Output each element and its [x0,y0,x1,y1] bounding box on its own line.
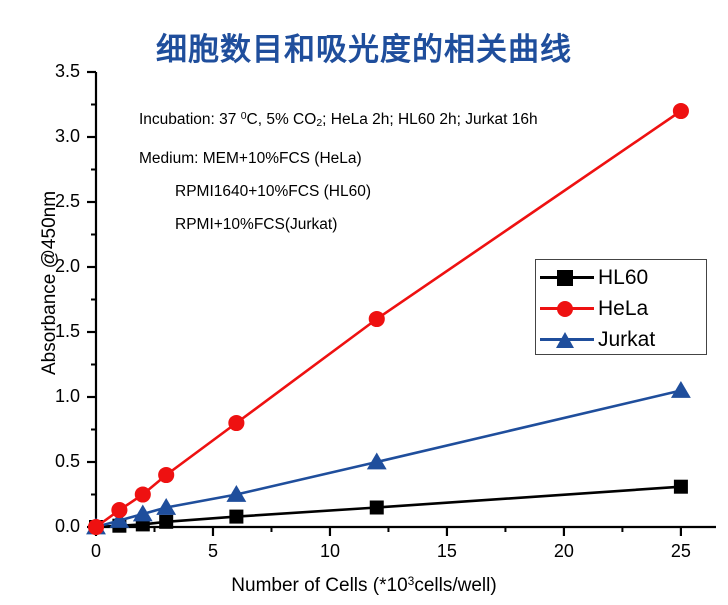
data-marker-circle [369,311,385,327]
legend-symbol-circle-icon [536,293,598,323]
series-jurkat [86,381,691,534]
chart-legend: HL60HeLaJurkat [535,259,707,355]
legend-symbol-triangle-icon [536,324,598,354]
y-tick-label: 2.5 [38,191,80,212]
x-tick-label: 25 [661,541,701,562]
data-marker-square [674,480,688,494]
y-tick-label: 0.0 [38,516,80,537]
series-hl60 [89,480,688,534]
x-tick-label: 10 [310,541,350,562]
legend-label: HeLa [598,298,648,319]
y-tick-label: 1.0 [38,386,80,407]
y-tick-label: 3.5 [38,61,80,82]
data-marker-square [159,515,173,529]
y-tick-label: 0.5 [38,451,80,472]
data-marker-triangle [671,381,691,398]
chart-figure: 细胞数目和吸光度的相关曲线 Incubation: 37 0C, 5% CO2;… [0,0,728,605]
x-tick-label: 0 [76,541,116,562]
legend-item-jurkat[interactable]: Jurkat [536,323,708,355]
legend-marker-triangle-icon [556,332,574,348]
data-marker-circle [228,415,244,431]
data-marker-circle [158,467,174,483]
legend-item-hela[interactable]: HeLa [536,292,708,324]
data-marker-square [370,501,384,515]
data-marker-circle [88,519,104,535]
legend-marker-circle-icon [557,301,573,317]
legend-symbol-square-icon [536,262,598,292]
x-tick-label: 15 [427,541,467,562]
data-marker-circle [135,486,151,502]
legend-label: HL60 [598,267,648,288]
x-tick-label: 20 [544,541,584,562]
series-line-hl60 [96,487,681,527]
legend-marker-square-icon [557,270,573,286]
y-tick-label: 1.5 [38,321,80,342]
legend-label: Jurkat [598,329,655,350]
y-tick-label: 3.0 [38,126,80,147]
y-tick-label: 2.0 [38,256,80,277]
x-tick-label: 5 [193,541,233,562]
data-marker-square [229,510,243,524]
data-marker-circle [673,103,689,119]
data-marker-circle [111,502,127,518]
legend-item-hl60[interactable]: HL60 [536,261,708,293]
